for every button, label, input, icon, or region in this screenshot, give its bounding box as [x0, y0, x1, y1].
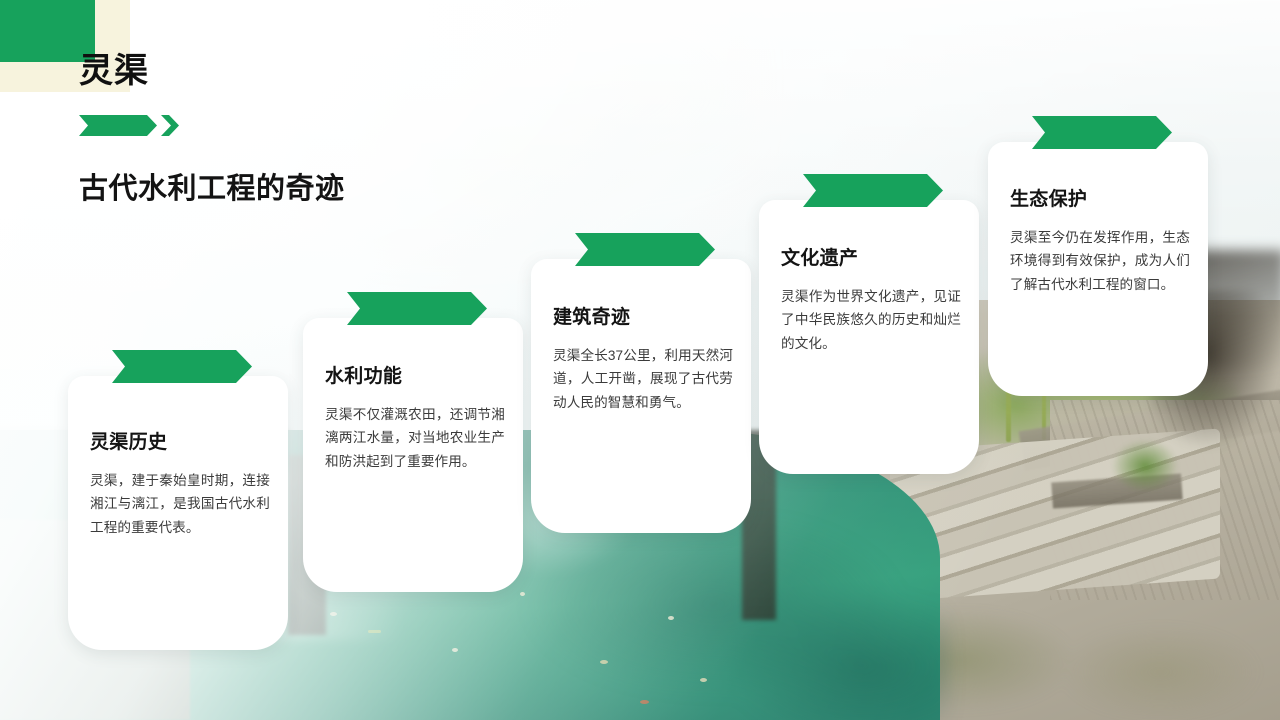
card-tab-chevron-icon [575, 233, 715, 266]
card-tab-chevron-icon [112, 350, 252, 383]
card-body: 灵渠不仅灌溉农田，还调节湘漓两江水量，对当地农业生产和防洪起到了重要作用。 [325, 403, 505, 473]
info-card-eco-protection[interactable]: 生态保护 灵渠至今仍在发挥作用，生态环境得到有效保护，成为人们了解古代水利工程的… [988, 142, 1208, 396]
card-body: 灵渠全长37公里，利用天然河道，人工开凿，展现了古代劳动人民的智慧和勇气。 [553, 344, 733, 414]
card-body: 灵渠作为世界文化遗产，见证了中华民族悠久的历史和灿烂的文化。 [781, 285, 961, 355]
card-tab-chevron-icon [1032, 116, 1172, 149]
card-heading: 灵渠历史 [90, 433, 167, 454]
card-tab-chevron-icon [347, 292, 487, 325]
slide-canvas: 灵渠 古代水利工程的奇迹 灵渠历史 灵渠，建于秦始皇时期，连接湘江与漓江，是我国… [0, 0, 1280, 720]
info-card-cultural-heritage[interactable]: 文化遗产 灵渠作为世界文化遗产，见证了中华民族悠久的历史和灿烂的文化。 [759, 200, 979, 474]
card-tab-chevron-icon [803, 174, 943, 207]
page-title: 灵渠 [79, 54, 149, 88]
card-heading: 水利功能 [325, 367, 402, 388]
card-body: 灵渠至今仍在发挥作用，生态环境得到有效保护，成为人们了解古代水利工程的窗口。 [1010, 226, 1190, 296]
card-heading: 生态保护 [1010, 190, 1087, 211]
info-card-history[interactable]: 灵渠历史 灵渠，建于秦始皇时期，连接湘江与漓江，是我国古代水利工程的重要代表。 [68, 376, 288, 650]
page-subtitle: 古代水利工程的奇迹 [79, 173, 345, 206]
info-card-water-function[interactable]: 水利功能 灵渠不仅灌溉农田，还调节湘漓两江水量，对当地农业生产和防洪起到了重要作… [303, 318, 523, 592]
card-body: 灵渠，建于秦始皇时期，连接湘江与漓江，是我国古代水利工程的重要代表。 [90, 469, 270, 539]
card-heading: 建筑奇迹 [553, 308, 630, 329]
card-heading: 文化遗产 [781, 249, 858, 270]
double-chevron-arrow-icon [79, 115, 179, 136]
info-card-engineering-marvel[interactable]: 建筑奇迹 灵渠全长37公里，利用天然河道，人工开凿，展现了古代劳动人民的智慧和勇… [531, 259, 751, 533]
